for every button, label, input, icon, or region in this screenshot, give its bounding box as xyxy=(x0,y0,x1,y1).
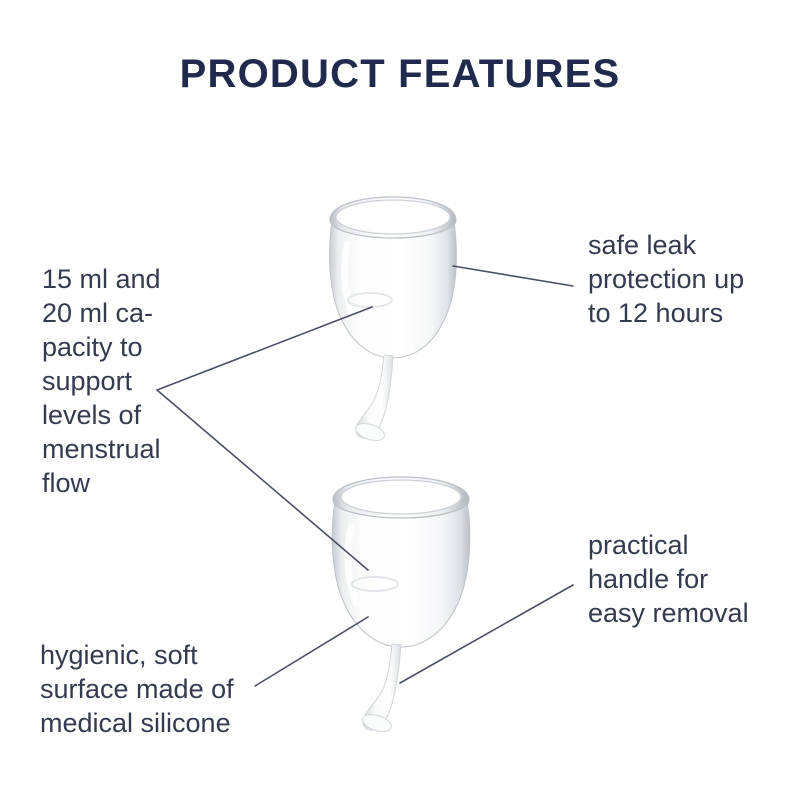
menstrual-cup-small-illustration xyxy=(318,192,488,452)
callout-hygienic: hygienic, soft surface made of medical s… xyxy=(40,638,300,740)
product-features-infographic: PRODUCT FEATURES xyxy=(0,0,800,800)
callout-handle: practical handle for easy removal xyxy=(588,528,788,630)
cup-small-opening xyxy=(336,200,450,234)
cup-large-body xyxy=(332,502,470,647)
callout-capacity: 15 ml and 20 ml ca- pacity to support le… xyxy=(42,262,232,500)
callout-leak-protection: safe leak protection up to 12 hours xyxy=(588,228,788,330)
cup-large-opening xyxy=(341,480,461,514)
menstrual-cup-large-illustration xyxy=(322,472,497,732)
